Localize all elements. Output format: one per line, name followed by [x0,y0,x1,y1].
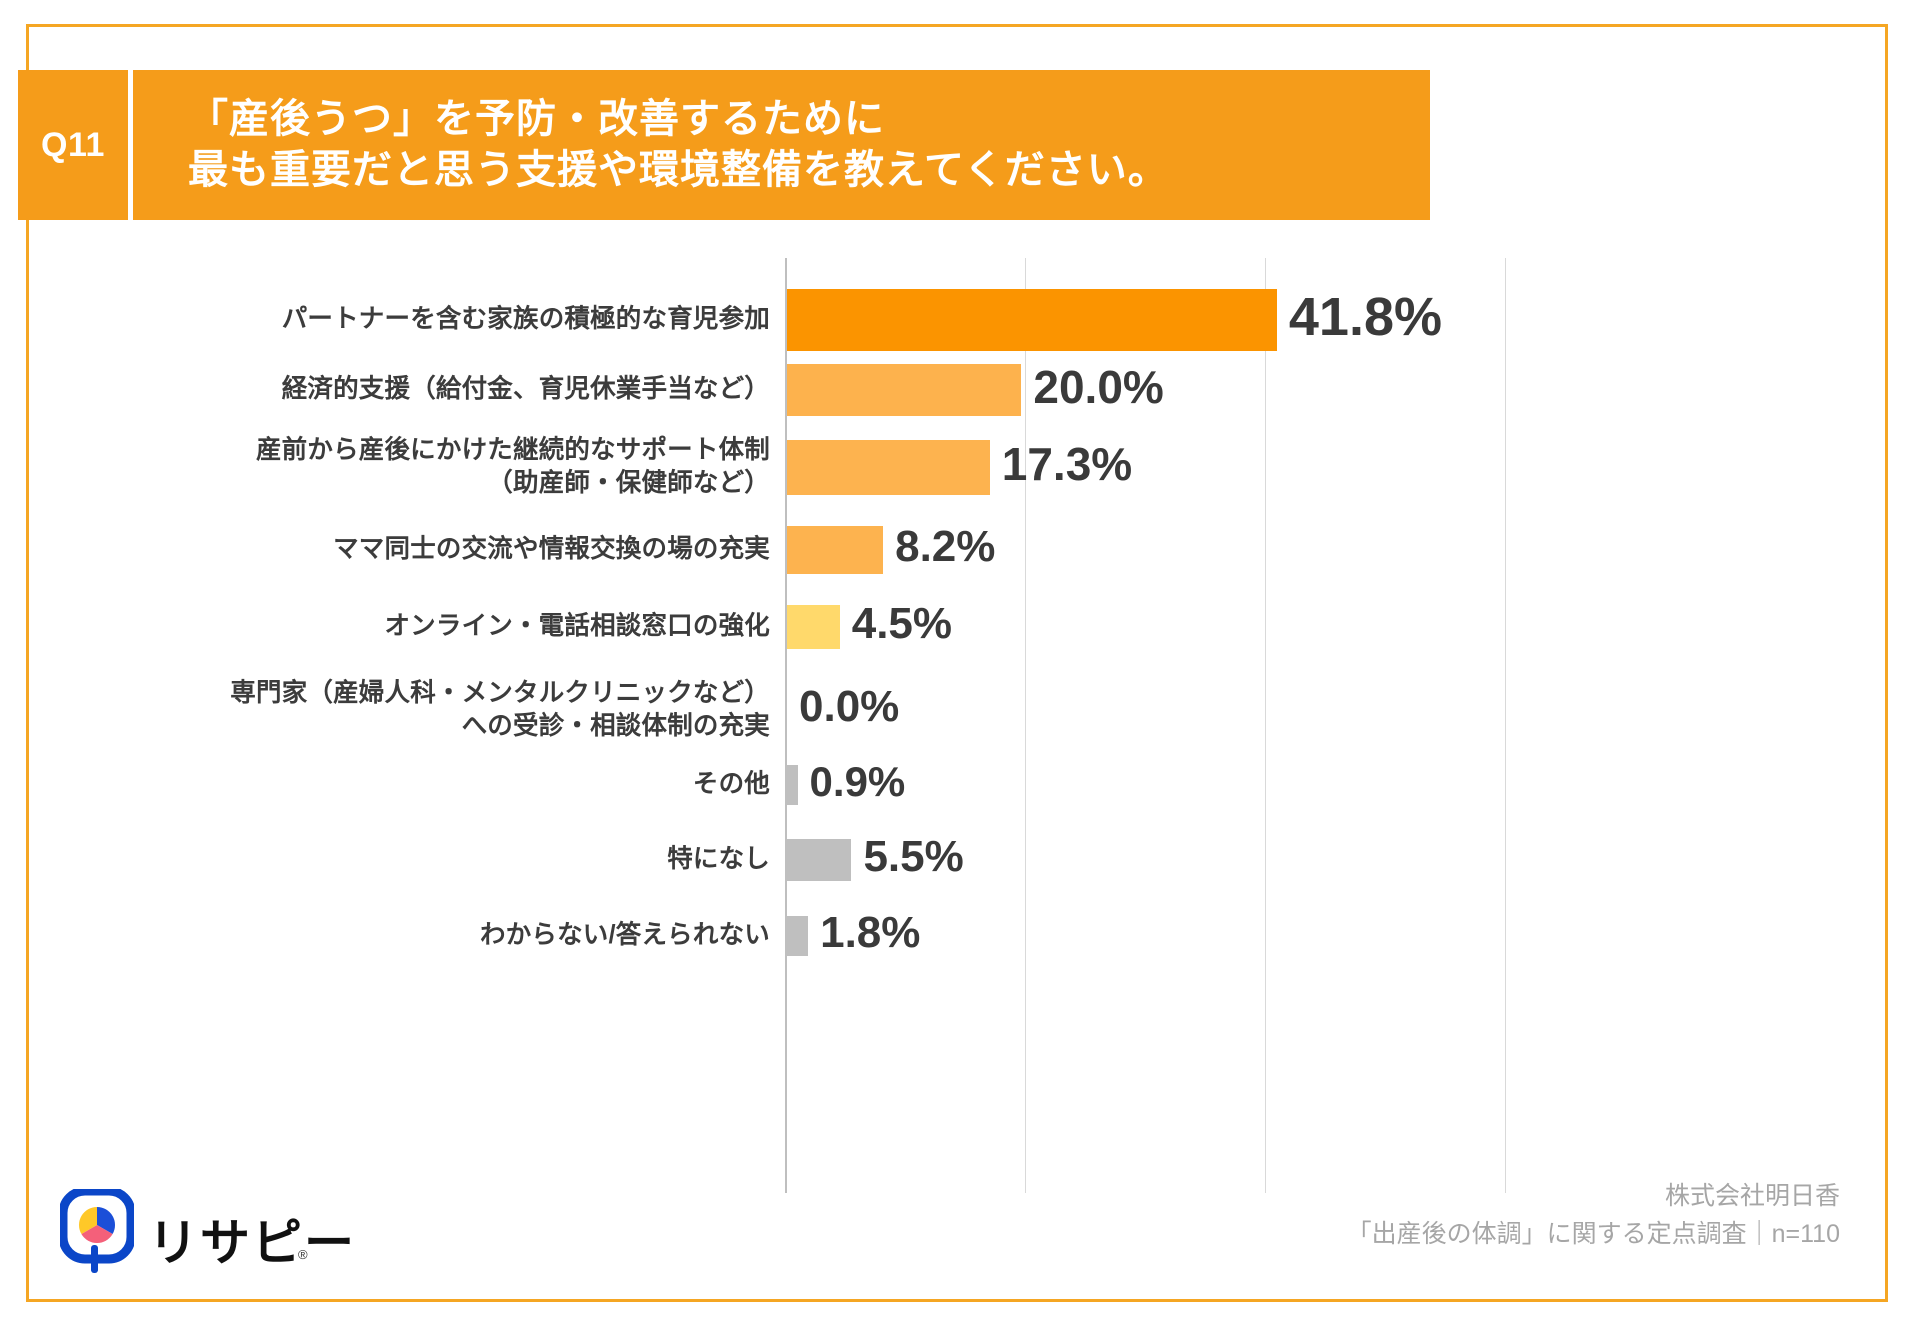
value-label-6: 0.9% [810,761,906,803]
category-label-5: 専門家（産婦人科・メンタルクリニックなど） への受診・相談体制の充実 [230,650,770,770]
question-title-line-1: 「産後うつ」を予防・改善するために [188,94,1430,145]
registered-mark: ® [298,1247,308,1262]
bar-7 [787,839,851,881]
bar-chart: パートナーを含む家族の積極的な育児参加41.8%経済的支援（給付金、育児休業手当… [0,258,1920,1208]
bar-6 [787,765,798,805]
value-label-0: 41.8% [1289,290,1442,344]
bar-8 [787,916,808,956]
bar-0 [787,289,1277,351]
gridline-10 [1025,258,1026,1193]
risapy-logo: リサピー ® [60,1185,360,1280]
value-label-4: 4.5% [852,602,952,646]
footer-attribution: 株式会社明日香 「出産後の体調」に関する定点調査｜n=110 [1347,1178,1840,1253]
question-number-badge: Q11 [18,70,128,220]
question-title-line-2: 最も重要だと思う支援や環境整備を教えてください。 [188,145,1430,196]
risapy-logo-mark-icon [60,1189,134,1275]
bar-2 [787,440,990,495]
value-label-8: 1.8% [820,911,920,955]
slide-page: Q11 「産後うつ」を予防・改善するために 最も重要だと思う支援や環境整備を教え… [0,0,1920,1329]
value-label-3: 8.2% [895,525,995,569]
risapy-logo-text: リサピー [148,1203,356,1275]
question-number-label: Q11 [41,126,105,165]
value-label-7: 5.5% [863,835,963,879]
gridline-20 [1265,258,1266,1193]
category-label-8: わからない/答えられない [480,876,770,996]
value-label-2: 17.3% [1002,441,1132,487]
question-title-banner: 「産後うつ」を予防・改善するために 最も重要だと思う支援や環境整備を教えてくださ… [133,70,1430,220]
footer-survey: 「出産後の体調」に関する定点調査｜n=110 [1347,1216,1840,1254]
bar-1 [787,364,1021,416]
bar-4 [787,605,840,649]
footer-company: 株式会社明日香 [1347,1178,1840,1216]
gridline-30 [1505,258,1506,1193]
value-label-1: 20.0% [1033,364,1163,410]
bar-3 [787,526,883,574]
value-label-5: 0.0% [799,685,899,729]
